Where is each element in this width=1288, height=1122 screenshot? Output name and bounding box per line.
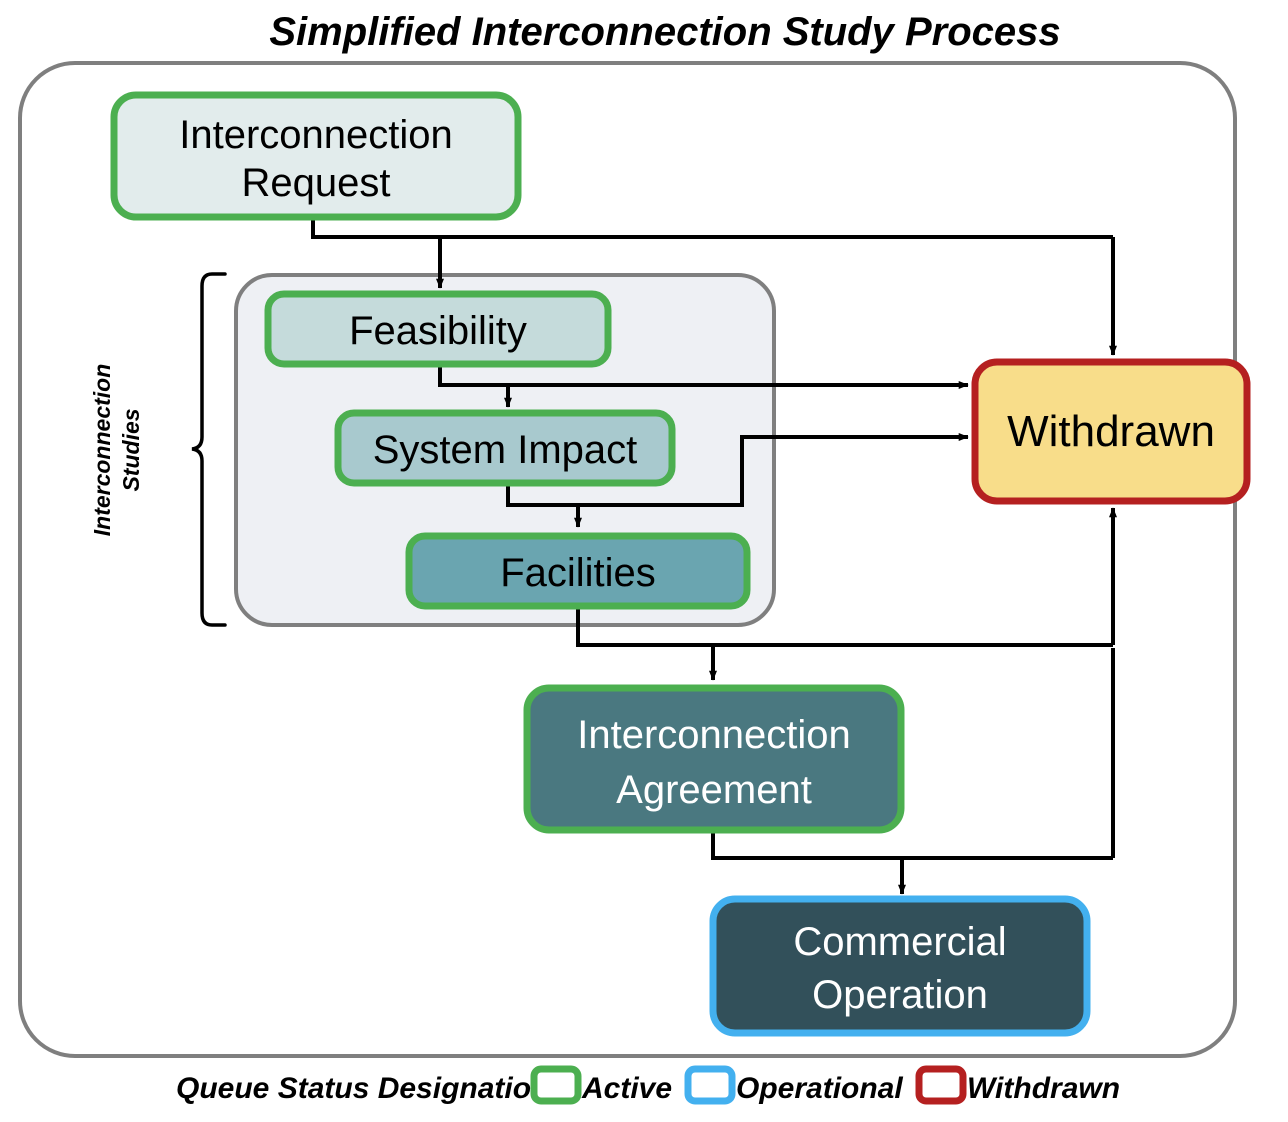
node-interconnection-request[interactable]: Interconnection Request (114, 95, 518, 217)
node-withdrawn[interactable]: Withdrawn (975, 362, 1247, 501)
node-facilities[interactable]: Facilities (409, 536, 747, 606)
node-feasibility-label: Feasibility (349, 309, 527, 353)
legend-item-active[interactable]: Active (534, 1069, 672, 1105)
legend-label-operational: Operational (736, 1072, 903, 1105)
node-system-impact-label: System Impact (373, 428, 638, 472)
legend: Queue Status Designation: Active Operati… (176, 1069, 1120, 1105)
legend-item-operational[interactable]: Operational (688, 1069, 903, 1105)
legend-item-withdrawn[interactable]: Withdrawn (919, 1069, 1120, 1105)
page-title: Simplified Interconnection Study Process (269, 10, 1060, 54)
legend-label-active: Active (581, 1072, 672, 1105)
node-feasibility[interactable]: Feasibility (268, 294, 608, 364)
node-system-impact[interactable]: System Impact (338, 413, 672, 483)
node-interconnection-agreement-line1: Interconnection (577, 713, 851, 757)
node-commercial-operation[interactable]: Commercial Operation (713, 899, 1087, 1033)
node-facilities-label: Facilities (500, 551, 656, 595)
connector-agreement-split (713, 830, 1113, 858)
diagram-canvas: Simplified Interconnection Study Process… (0, 0, 1288, 1122)
node-commercial-operation-line1: Commercial (793, 920, 1006, 964)
legend-swatch-withdrawn (919, 1069, 963, 1101)
studies-bracket (192, 274, 225, 625)
studies-bracket-label: Interconnection Studies (89, 364, 144, 537)
node-interconnection-agreement[interactable]: Interconnection Agreement (527, 688, 901, 830)
legend-swatch-operational (688, 1069, 732, 1101)
node-interconnection-request-line2: Request (242, 161, 391, 205)
node-interconnection-request-line1: Interconnection (179, 113, 453, 157)
legend-label-withdrawn: Withdrawn (967, 1072, 1120, 1105)
node-interconnection-agreement-line2: Agreement (616, 768, 812, 812)
node-commercial-operation-line2: Operation (812, 973, 988, 1017)
legend-caption: Queue Status Designation: (176, 1072, 559, 1105)
bracket-label-line1: Interconnection (89, 364, 115, 537)
node-withdrawn-label: Withdrawn (1007, 407, 1215, 456)
bracket-label-line2: Studies (118, 408, 144, 491)
legend-swatch-active (534, 1069, 578, 1101)
